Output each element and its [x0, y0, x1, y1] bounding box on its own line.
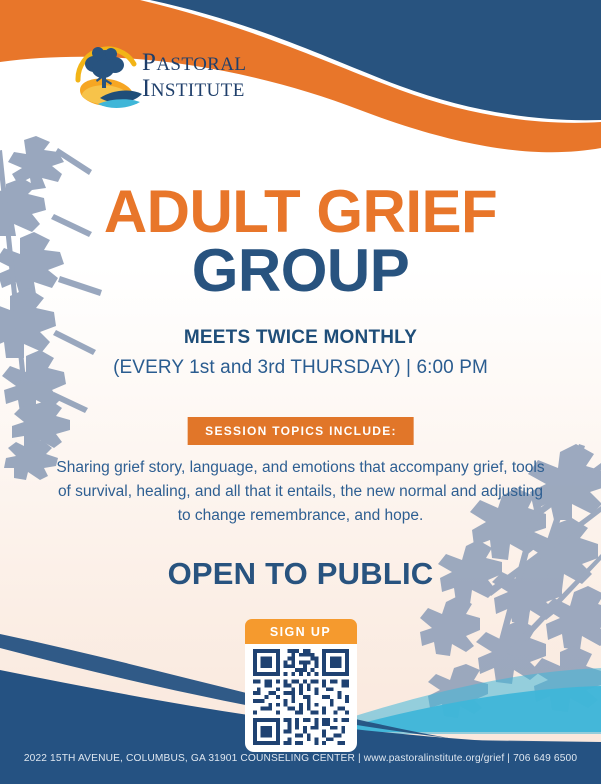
qr-card: [245, 644, 357, 752]
flyer-page: PASTORAL INSTITUTE ADULT GRIEF GROUP MEE…: [0, 0, 601, 784]
headline-line-1: ADULT GRIEF: [0, 182, 601, 242]
pastoral-institute-logo: PASTORAL INSTITUTE: [72, 36, 252, 112]
headline-line-2: GROUP: [0, 241, 601, 301]
svg-text:INSTITUTE: INSTITUTE: [142, 75, 245, 102]
footer-contact-text: 2022 15TH AVENUE, COLUMBUS, GA 31901 COU…: [0, 753, 601, 764]
schedule-detail: (EVERY 1st and 3rd THURSDAY) | 6:00 PM: [0, 357, 601, 379]
session-topics-badge: SESSION TOPICS INCLUDE:: [187, 417, 414, 445]
qr-code-icon[interactable]: [251, 649, 351, 745]
svg-text:PASTORAL: PASTORAL: [142, 49, 246, 76]
signup-card[interactable]: SIGN UP: [245, 619, 357, 752]
topics-description: Sharing grief story, language, and emoti…: [51, 456, 551, 528]
sign-up-button[interactable]: SIGN UP: [245, 619, 357, 645]
open-to-public-label: OPEN TO PUBLIC: [0, 556, 601, 592]
schedule-frequency: MEETS TWICE MONTHLY: [0, 327, 601, 349]
